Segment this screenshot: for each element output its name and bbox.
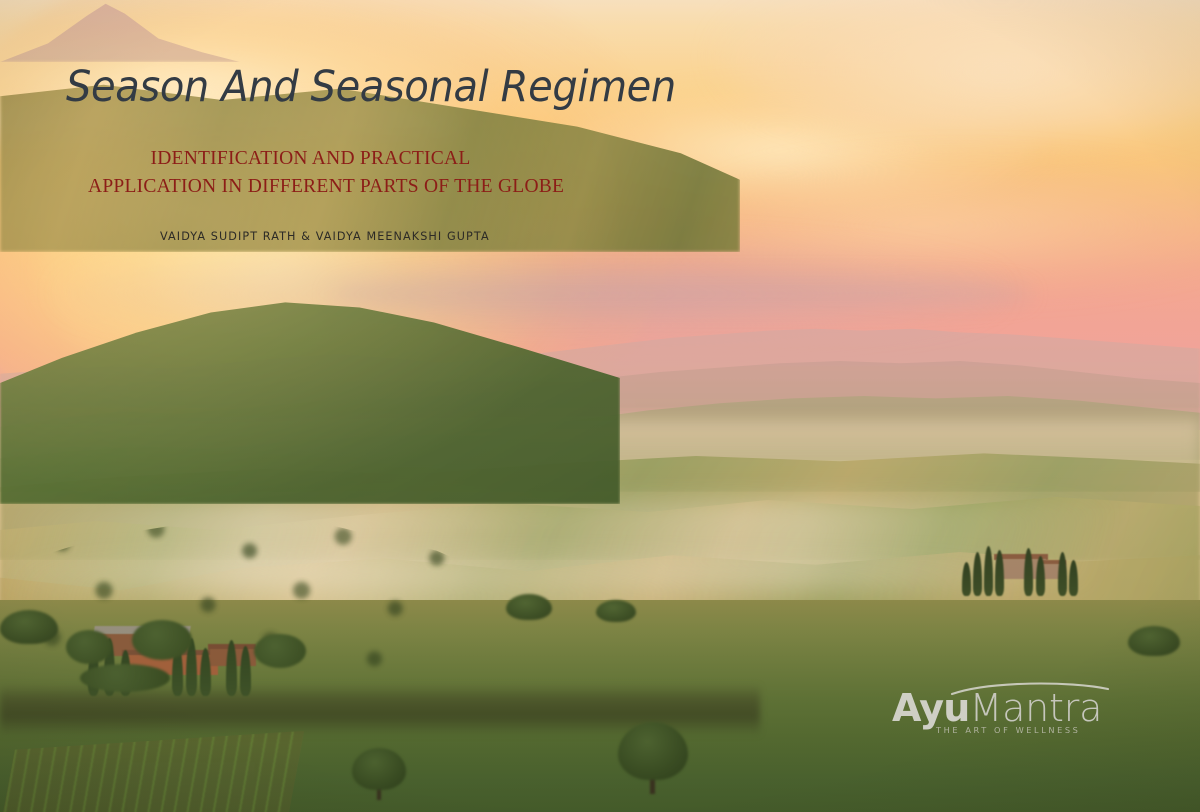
page-subtitle: IDENTIFICATION AND PRACTICAL APPLICATION… <box>88 145 533 200</box>
publisher-logo: AyuMantra THE ART OF WELLNESS <box>892 680 1122 746</box>
vineyard-rows <box>0 731 304 812</box>
tree-clump-mid-right <box>596 600 636 622</box>
tree-clump-right-edge <box>1128 626 1180 656</box>
logo-tagline: THE ART OF WELLNESS <box>936 725 1080 735</box>
hilltop-villa <box>962 536 1082 596</box>
tree-clump-left-edge <box>0 610 58 644</box>
foreground-green-hill <box>0 252 620 504</box>
lone-tree-centre <box>618 722 688 780</box>
subtitle-line-1: IDENTIFICATION AND PRACTICAL <box>88 145 533 173</box>
page-title: Season And Seasonal Regimen <box>66 62 676 112</box>
lone-tree-left <box>352 748 406 790</box>
cloud-glow-right <box>700 160 1200 290</box>
logo-wordmark: AyuMantra <box>892 689 1122 727</box>
book-cover: Season And Seasonal Regimen IDENTIFICATI… <box>0 0 1200 812</box>
mountain-peak <box>0 0 240 62</box>
tree-clump-mid <box>506 594 552 620</box>
logo-word-mantra: Mantra <box>969 686 1102 730</box>
authors-line: VAIDYA SUDIPT RATH & VAIDYA MEENAKSHI GU… <box>160 230 490 243</box>
subtitle-line-2: APPLICATION IN DIFFERENT PARTS OF THE GL… <box>88 173 533 201</box>
cloud-streak-centre <box>330 272 1030 316</box>
logo-word-ayu: Ayu <box>892 686 969 730</box>
farmhouse-cluster <box>80 620 310 690</box>
cloud-top-right <box>720 0 1200 140</box>
